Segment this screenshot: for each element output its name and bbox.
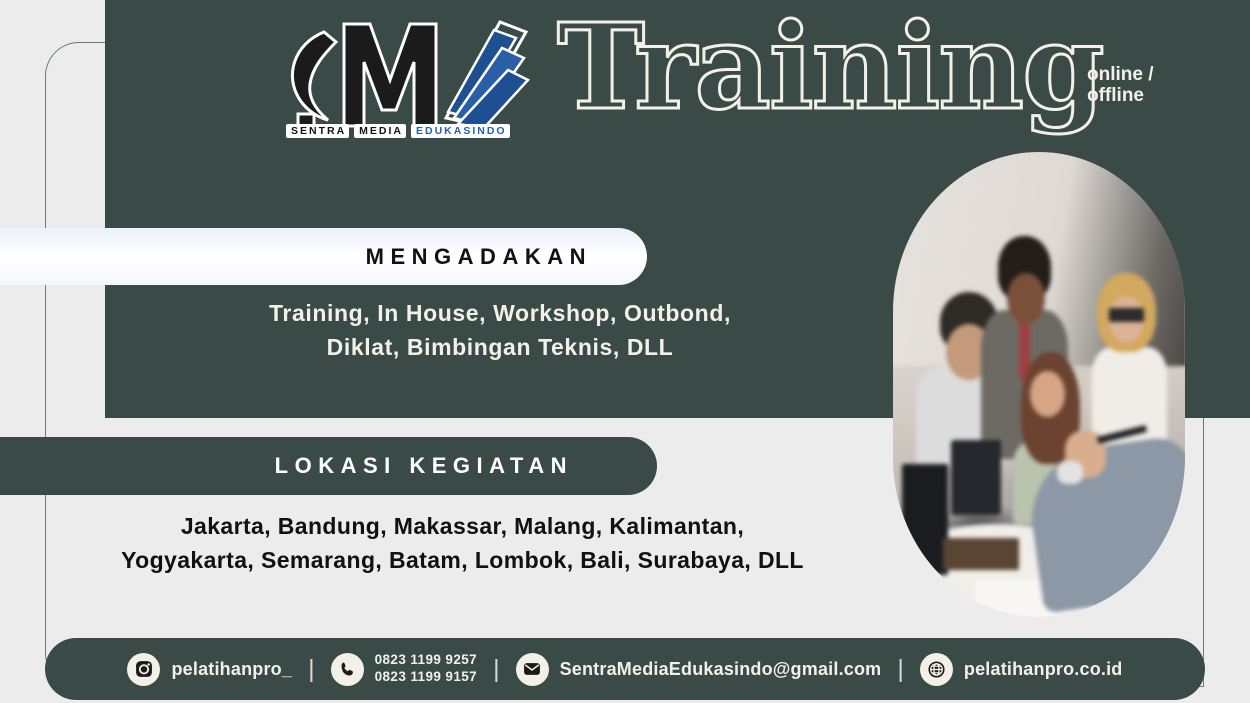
offering-pill: MENGADAKAN xyxy=(0,228,647,285)
location-list: Jakarta, Bandung, Makassar, Malang, Kali… xyxy=(60,510,865,578)
logo-word-media: MEDIA xyxy=(354,124,406,139)
website-url: pelatihanpro.co.id xyxy=(964,659,1123,680)
footer-separator: | xyxy=(493,655,500,684)
instagram-icon xyxy=(127,653,160,686)
phone-icon xyxy=(331,653,364,686)
email-address: SentraMediaEdukasindo@gmail.com xyxy=(560,659,882,680)
globe-icon xyxy=(920,653,953,686)
location-pill-label: LOKASI KEGIATAN xyxy=(275,453,573,479)
poster-canvas: SENTRA MEDIA EDUKASINDO Training online … xyxy=(0,0,1250,703)
instagram-handle: pelatihanpro_ xyxy=(171,659,292,680)
logo-word-edukasindo: EDUKASINDO xyxy=(411,124,510,139)
phone-numbers: 0823 1199 9257 0823 1199 9157 xyxy=(375,652,477,686)
offering-list: Training, In House, Workshop, Outbond, D… xyxy=(105,296,895,364)
contact-website[interactable]: pelatihanpro.co.id xyxy=(920,653,1123,686)
logo-word-sentra: SENTRA xyxy=(286,124,349,139)
location-pill: LOKASI KEGIATAN xyxy=(0,437,657,495)
contact-email[interactable]: SentraMediaEdukasindo@gmail.com xyxy=(516,653,882,686)
email-icon xyxy=(516,653,549,686)
contact-phone[interactable]: 0823 1199 9257 0823 1199 9157 xyxy=(331,652,477,686)
offering-pill-label: MENGADAKAN xyxy=(366,244,592,270)
footer-separator: | xyxy=(897,655,904,684)
page-title: Training xyxy=(557,8,1103,126)
team-meeting-photo xyxy=(893,152,1185,617)
company-logo: SENTRA MEDIA EDUKASINDO xyxy=(278,14,536,140)
delivery-mode-note: online / offline xyxy=(1087,65,1154,107)
contact-footer: pelatihanpro_ | 0823 1199 9257 0823 1199… xyxy=(45,638,1205,700)
photo-blur-overlay xyxy=(893,152,1185,617)
photo-background xyxy=(893,152,1185,617)
logo-wordmark: SENTRA MEDIA EDUKASINDO xyxy=(286,124,510,139)
contact-instagram[interactable]: pelatihanpro_ xyxy=(127,653,292,686)
logo-mark-icon xyxy=(278,14,536,140)
footer-separator: | xyxy=(308,655,315,684)
